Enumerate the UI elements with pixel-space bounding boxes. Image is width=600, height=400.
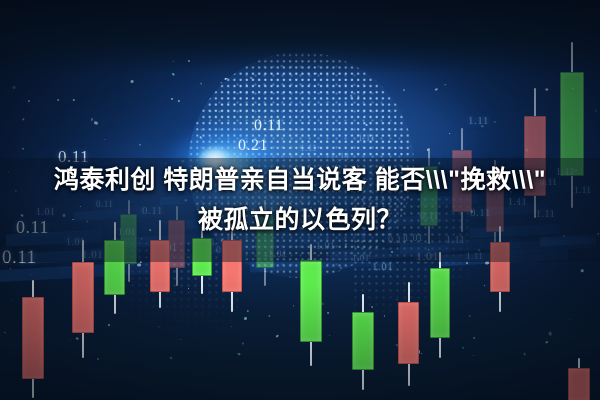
news-thumbnail: 0.110.110.111.011.011.011.010.111.010.11… (0, 0, 600, 400)
page-title: 鸿泰利创 特朗普亲自当说客 能否\\\"挽救\\\" 被孤立的以色列？ (0, 160, 600, 240)
